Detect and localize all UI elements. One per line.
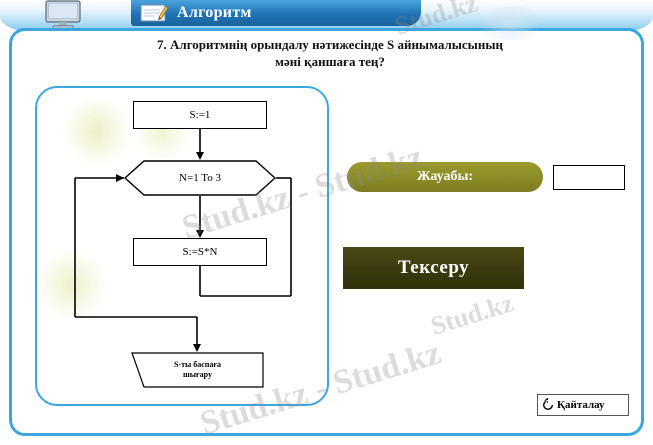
check-button-label: Тексеру xyxy=(398,257,469,279)
answer-label: Жауабы: xyxy=(417,169,473,185)
slide-canvas: Stud.kz Алгоритм 7. Алгоритмнің орындалу… xyxy=(0,0,653,445)
question-line-2: мәні қаншаға тең? xyxy=(60,53,600,70)
flow-node-assign-2-label: S:=S*N xyxy=(183,246,218,258)
header-title-banner: Алгоритм xyxy=(131,0,421,26)
refresh-icon xyxy=(540,397,556,413)
flow-node-output-line-1: S-ты баспаға xyxy=(174,360,221,370)
answer-label-bar: Жауабы: xyxy=(347,162,543,192)
back-button[interactable]: Қайталау xyxy=(537,394,629,416)
flow-node-assign-1: S:=1 xyxy=(133,101,267,129)
back-button-label: Қайталау xyxy=(557,399,605,411)
flow-node-output-line-2: шығару xyxy=(183,370,212,380)
flow-node-output: S-ты баспаға шығару xyxy=(131,352,264,388)
flow-node-assign-2: S:=S*N xyxy=(133,238,267,266)
flow-node-loop: N=1 To 3 xyxy=(124,160,276,196)
monitor-icon xyxy=(42,0,86,30)
question-line-1: 7. Алгоритмнің орындалу нәтижесінде S ай… xyxy=(60,36,600,53)
question-text: 7. Алгоритмнің орындалу нәтижесінде S ай… xyxy=(60,36,600,70)
flow-node-output-label: S-ты баспаға шығару xyxy=(131,352,264,388)
flow-node-loop-label: N=1 To 3 xyxy=(124,160,276,196)
check-button[interactable]: Тексеру xyxy=(343,247,524,289)
note-pencil-icon xyxy=(139,2,169,24)
flow-node-assign-1-label: S:=1 xyxy=(190,109,211,121)
header-title: Алгоритм xyxy=(177,4,252,22)
answer-input[interactable] xyxy=(553,165,625,190)
